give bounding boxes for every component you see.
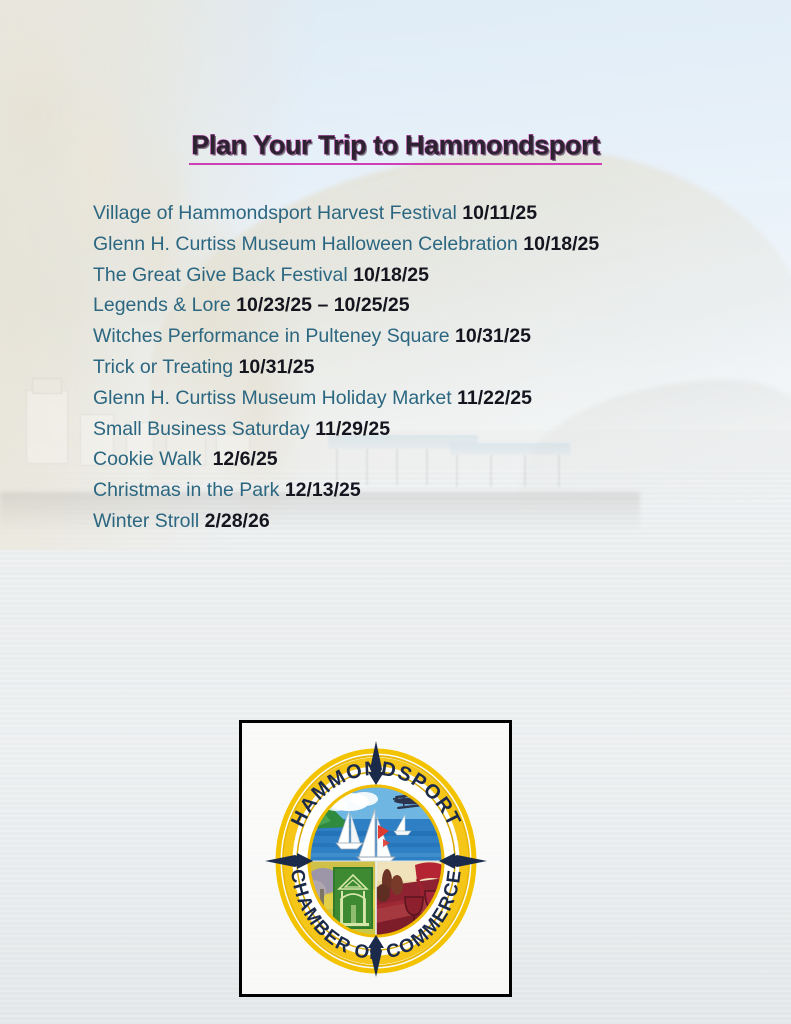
events-list: Village of Hammondsport Harvest Festival… bbox=[93, 198, 753, 537]
page-title-text: Plan Your Trip to Hammondsport bbox=[189, 131, 602, 165]
event-name: The Great Give Back Festival bbox=[93, 264, 348, 286]
list-item: Small Business Saturday 11/29/25 bbox=[93, 414, 753, 445]
event-name: Christmas in the Park bbox=[93, 479, 279, 501]
list-item: Christmas in the Park 12/13/25 bbox=[93, 475, 753, 506]
event-date: 10/23/25 – 10/25/25 bbox=[236, 294, 410, 316]
list-item: Cookie Walk 12/6/25 bbox=[93, 444, 753, 475]
event-date: 10/18/25 bbox=[353, 264, 429, 286]
event-name: Trick or Treating bbox=[93, 356, 233, 378]
page-title: Plan Your Trip to Hammondsport bbox=[0, 131, 791, 165]
event-date: 2/28/26 bbox=[205, 510, 270, 532]
event-name: Small Business Saturday bbox=[93, 418, 310, 440]
list-item: Witches Performance in Pulteney Square 1… bbox=[93, 321, 753, 352]
list-item: The Great Give Back Festival 10/18/25 bbox=[93, 260, 753, 291]
event-date: 12/6/25 bbox=[207, 448, 277, 470]
flyer-page: Plan Your Trip to Hammondsport Village o… bbox=[0, 0, 791, 1024]
chamber-logo-frame: HAMMONDSPORT CHAMBER OF COMMERCE bbox=[239, 720, 512, 997]
event-name: Legends & Lore bbox=[93, 294, 231, 316]
event-name: Village of Hammondsport Harvest Festival bbox=[93, 202, 457, 224]
list-item: Glenn H. Curtiss Museum Holiday Market 1… bbox=[93, 383, 753, 414]
event-name: Glenn H. Curtiss Museum Holiday Market bbox=[93, 387, 452, 409]
event-date: 10/31/25 bbox=[239, 356, 315, 378]
list-item: Trick or Treating 10/31/25 bbox=[93, 352, 753, 383]
event-date: 10/31/25 bbox=[455, 325, 531, 347]
event-name: Witches Performance in Pulteney Square bbox=[93, 325, 450, 347]
list-item: Glenn H. Curtiss Museum Halloween Celebr… bbox=[93, 229, 753, 260]
event-date: 10/18/25 bbox=[523, 233, 599, 255]
event-date: 11/29/25 bbox=[315, 418, 390, 440]
event-name: Glenn H. Curtiss Museum Halloween Celebr… bbox=[93, 233, 518, 255]
chamber-of-commerce-seal-icon: HAMMONDSPORT CHAMBER OF COMMERCE bbox=[265, 739, 487, 979]
list-item: Legends & Lore 10/23/25 – 10/25/25 bbox=[93, 290, 753, 321]
event-name: Winter Stroll bbox=[93, 510, 199, 532]
event-name: Cookie Walk bbox=[93, 448, 202, 470]
list-item: Village of Hammondsport Harvest Festival… bbox=[93, 198, 753, 229]
event-date: 10/11/25 bbox=[462, 202, 537, 224]
event-date: 12/13/25 bbox=[285, 479, 361, 501]
event-date: 11/22/25 bbox=[457, 387, 532, 409]
list-item: Winter Stroll 2/28/26 bbox=[93, 506, 753, 537]
